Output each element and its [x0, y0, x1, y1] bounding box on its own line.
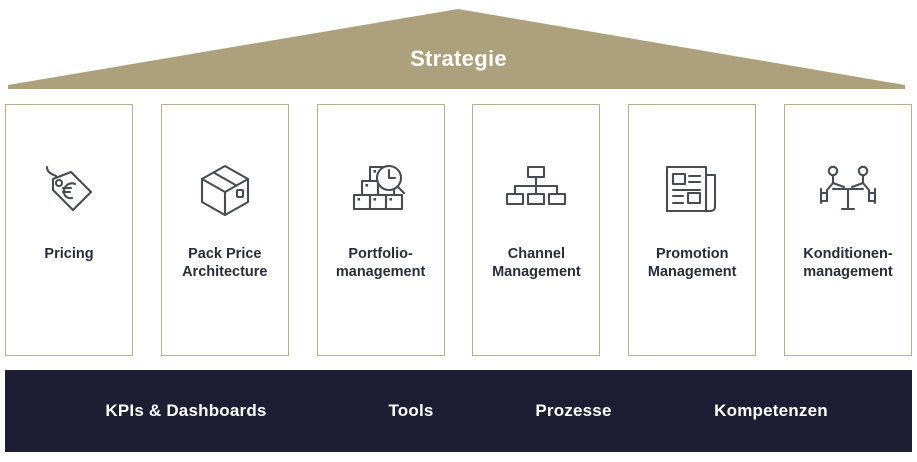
pillar-label: Promotion Management [633, 245, 751, 281]
newspaper-icon [656, 157, 728, 223]
price-tag-euro-icon [33, 157, 105, 223]
foundation-bar: KPIs & Dashboards Tools Prozesse Kompete… [5, 370, 912, 452]
pillar-label: Konditionen- management [789, 245, 907, 281]
foundation-item-tools[interactable]: Tools [336, 401, 486, 421]
foundation-item-kpis-dashboards[interactable]: KPIs & Dashboards [36, 401, 336, 421]
pillar-label: Channel Management [477, 245, 595, 281]
pillar-label: Portfolio- management [322, 245, 440, 281]
package-box-icon [189, 157, 261, 223]
roof-section: Strategie [0, 0, 917, 92]
pillars-row: Pricing Pack Price Architecture [5, 104, 912, 356]
foundation-item-prozesse[interactable]: Prozesse [486, 401, 661, 421]
pillar-konditionenmanagement[interactable]: Konditionen- management [784, 104, 912, 356]
roof-triangle-icon [0, 0, 917, 92]
pillar-promotion-management[interactable]: Promotion Management [628, 104, 756, 356]
negotiation-table-icon [812, 157, 884, 223]
pillar-pack-price-architecture[interactable]: Pack Price Architecture [161, 104, 289, 356]
pillar-channel-management[interactable]: Channel Management [472, 104, 600, 356]
foundation-item-kompetenzen[interactable]: Kompetenzen [661, 401, 881, 421]
pillar-label: Pricing [10, 245, 128, 263]
pillar-portfolio-management[interactable]: Portfolio- management [317, 104, 445, 356]
pillar-label: Pack Price Architecture [166, 245, 284, 281]
strategy-temple-diagram: Strategie Pricing [0, 0, 917, 462]
org-chart-icon [500, 157, 572, 223]
pillar-pricing[interactable]: Pricing [5, 104, 133, 356]
stacked-boxes-magnifier-icon [345, 157, 417, 223]
